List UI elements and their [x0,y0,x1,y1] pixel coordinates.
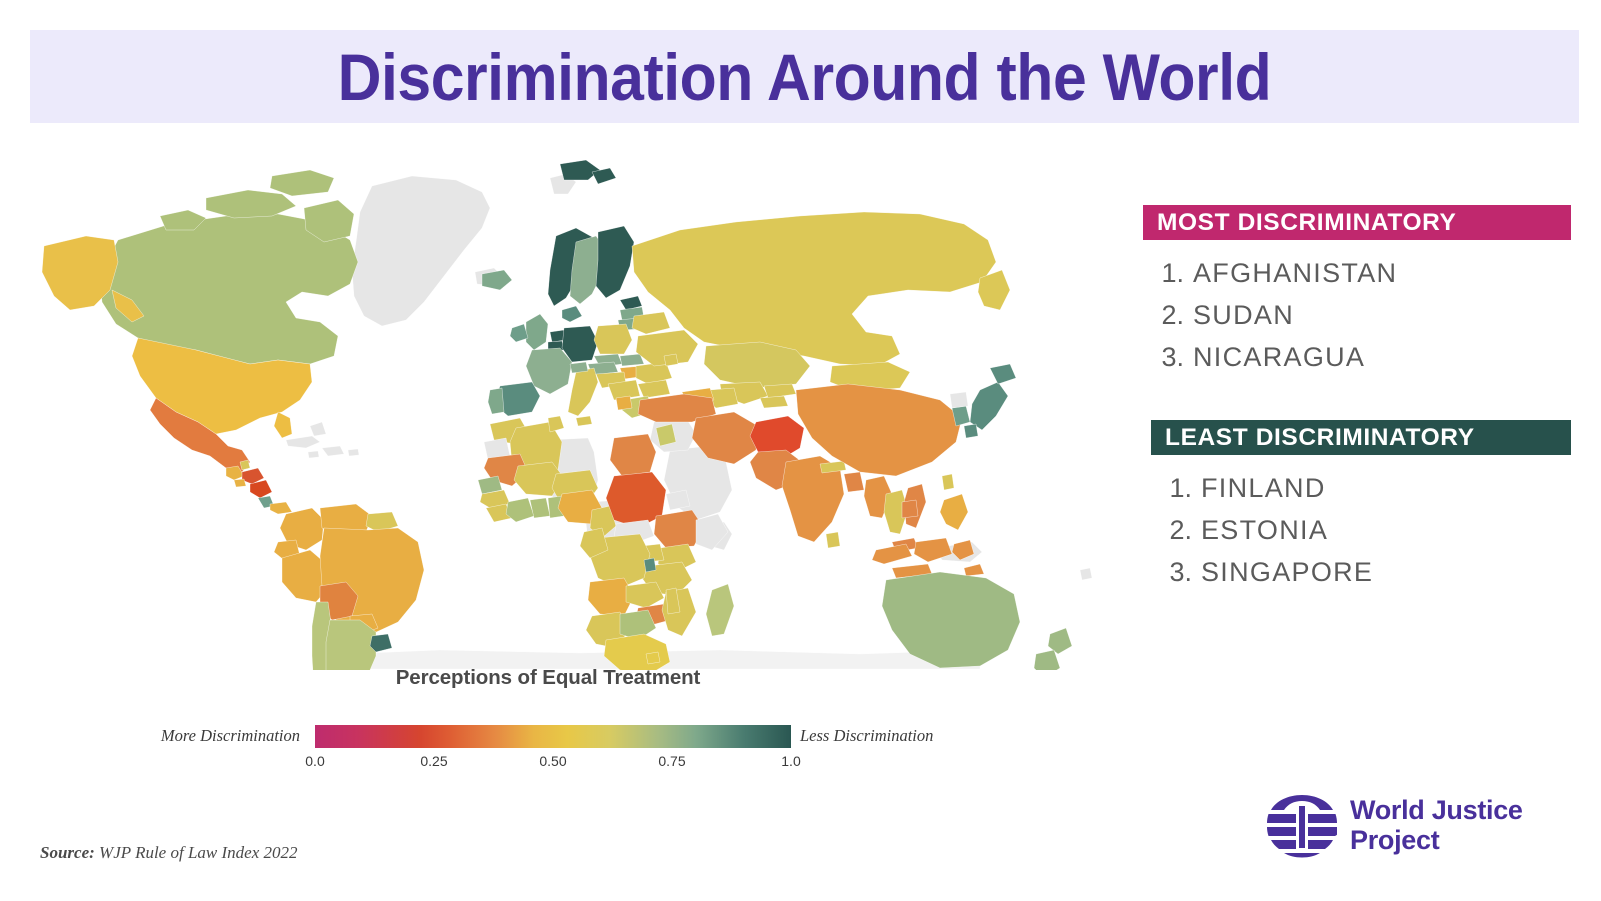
rank-number: 1. [1147,258,1193,289]
country-jamaica [308,451,319,458]
country-indonesia-sumatra [872,544,912,564]
logo-line-1: World Justice [1350,795,1523,825]
country-tunisia [548,416,564,432]
country-kyrgyzstan [764,384,796,398]
rank-country: SINGAPORE [1201,557,1373,588]
map-legend: Perceptions of Equal Treatment More Disc… [0,666,1100,776]
country-argentina [326,620,376,670]
country-cambodia-laos [902,500,918,518]
legend-tick-1: 0.25 [420,753,447,769]
country-el-salvador [234,479,246,487]
legend-title: Perceptions of Equal Treatment [0,666,1100,690]
rankings-panel: MOST DISCRIMINATORY 1. AFGHANISTAN 2. SU… [1125,205,1585,593]
list-item: 2. SUDAN [1147,294,1585,336]
infographic-root: Discrimination Around the World [0,0,1601,901]
country-slovakia [620,354,644,366]
rank-country: FINLAND [1201,473,1326,504]
logo-line-2: Project [1350,825,1523,855]
page-title: Discrimination Around the World [338,39,1272,115]
list-item: 1. FINLAND [1155,467,1585,509]
logo-text: World Justice Project [1350,795,1523,855]
source-label: Source: [40,843,95,862]
rank-number: 1. [1155,473,1201,504]
country-belize [240,460,250,470]
source-text: WJP Rule of Law Index 2022 [95,843,298,862]
world-choropleth-map [20,150,1100,670]
country-denmark [562,306,582,322]
legend-tick-row: 0.0 0.25 0.50 0.75 1.0 [315,753,791,775]
country-tajikistan [760,396,788,408]
country-hispaniola [322,446,344,456]
country-egypt [610,434,656,476]
legend-right-label: Less Discrimination [800,726,933,746]
country-switzerland [570,362,588,373]
country-new-zealand-north [1048,628,1072,654]
legend-tick-2: 0.50 [539,753,566,769]
country-canada-arctic-b [270,170,334,196]
rank-country: SUDAN [1193,300,1294,331]
globe-icon [1266,793,1338,859]
country-philippines [940,494,968,530]
legend-tick-3: 0.75 [658,753,685,769]
most-discriminatory-list: 1. AFGHANISTAN 2. SUDAN 3. NICARAGUA [1147,252,1585,378]
country-bahamas [310,422,326,436]
country-greenland [352,176,490,326]
country-ireland [510,324,528,342]
country-cuba [286,436,320,448]
world-map-container [20,150,1100,670]
least-discriminatory-header: LEAST DISCRIMINATORY [1151,420,1571,455]
country-south-africa [604,634,670,670]
country-svalbard [560,160,600,180]
legend-title-text: Perceptions of Equal Treatment [396,666,701,690]
title-band: Discrimination Around the World [30,30,1579,123]
country-portugal [488,388,504,414]
legend-left-label: More Discrimination [0,726,300,746]
least-discriminatory-block: LEAST DISCRIMINATORY 1. FINLAND 2. ESTON… [1125,420,1585,593]
list-item: 3. SINGAPORE [1155,551,1585,593]
rank-number: 2. [1147,300,1193,331]
list-item: 1. AFGHANISTAN [1147,252,1585,294]
legend-tick-0: 0.0 [305,753,324,769]
country-italy [568,368,598,416]
legend-colorbar [315,725,791,748]
country-madagascar [706,584,734,636]
country-uruguay [370,634,392,652]
country-moldova [664,354,678,366]
country-lesotho [646,652,660,664]
rank-country: NICARAGUA [1193,342,1365,373]
wjp-logo: World Justice Project [1266,791,1566,863]
country-albania-macedonia [616,396,632,410]
rank-country: AFGHANISTAN [1193,258,1397,289]
country-finland [596,226,634,298]
source-note: Source: WJP Rule of Law Index 2022 [40,843,298,863]
rank-country: ESTONIA [1201,515,1328,546]
country-bulgaria [638,380,670,398]
country-japan-kyushu [964,424,978,438]
least-discriminatory-list: 1. FINLAND 2. ESTONIA 3. SINGAPORE [1155,467,1585,593]
country-panama [270,502,292,514]
country-bangladesh [844,472,864,492]
country-puerto-rico [348,449,359,456]
country-sri-lanka [826,532,840,548]
country-japan [970,382,1008,430]
country-poland [594,324,632,354]
country-fiji-grey [1080,568,1092,580]
list-item: 3. NICARAGUA [1147,336,1585,378]
country-rwanda-burundi [644,558,656,572]
country-canada-arctic-a [206,190,296,218]
country-united-kingdom [526,314,548,350]
map-countries [42,160,1092,670]
most-discriminatory-block: MOST DISCRIMINATORY 1. AFGHANISTAN 2. SU… [1125,205,1585,378]
list-item: 2. ESTONIA [1155,509,1585,551]
country-italy-sicily [576,416,592,426]
country-timor-grey [964,564,984,576]
country-taiwan [942,474,954,490]
rank-number: 3. [1155,557,1201,588]
country-north-korea [950,392,968,408]
country-us-florida [274,412,292,438]
most-discriminatory-header: MOST DISCRIMINATORY [1143,205,1571,240]
legend-tick-4: 1.0 [781,753,800,769]
rank-number: 3. [1147,342,1193,373]
country-japan-hokkaido [990,364,1016,384]
rank-number: 2. [1155,515,1201,546]
